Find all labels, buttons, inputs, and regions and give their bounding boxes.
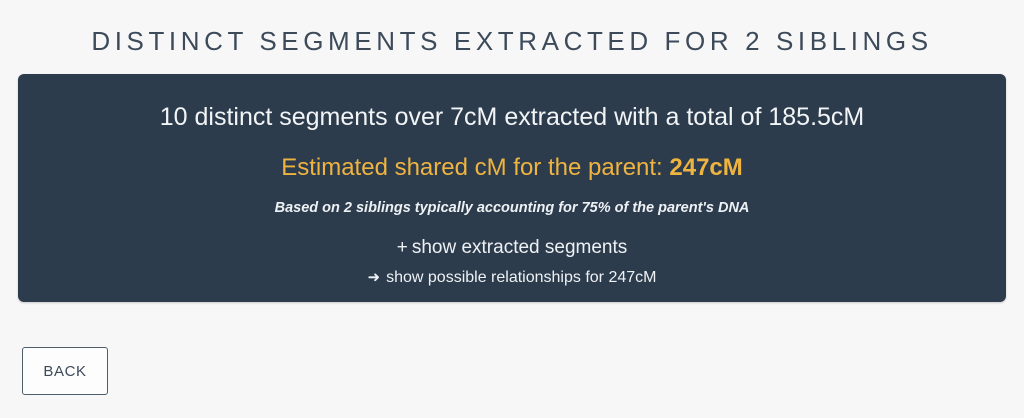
arrow-right-icon: ➜ [368, 268, 381, 288]
estimated-shared-cm-line: Estimated shared cM for the parent: 247c… [281, 153, 743, 182]
back-button[interactable]: BACK [22, 347, 108, 395]
show-extracted-segments-link[interactable]: +show extracted segments [397, 236, 628, 259]
show-possible-relationships-link[interactable]: ➜show possible relationships for 247cM [368, 268, 657, 288]
results-panel: 10 distinct segments over 7cM extracted … [18, 74, 1006, 302]
page-title: DISTINCT SEGMENTS EXTRACTED FOR 2 SIBLIN… [0, 26, 1024, 56]
plus-icon: + [397, 236, 408, 259]
show-extracted-segments-label: show extracted segments [412, 237, 627, 258]
estimate-value: 247cM [669, 154, 742, 181]
basis-note-text: Based on 2 siblings typically accounting… [275, 199, 750, 217]
estimate-label: Estimated shared cM for the parent: [281, 154, 669, 181]
results-page: DISTINCT SEGMENTS EXTRACTED FOR 2 SIBLIN… [0, 0, 1024, 418]
show-possible-relationships-label: show possible relationships for 247cM [386, 269, 656, 286]
segments-summary-text: 10 distinct segments over 7cM extracted … [160, 102, 865, 132]
